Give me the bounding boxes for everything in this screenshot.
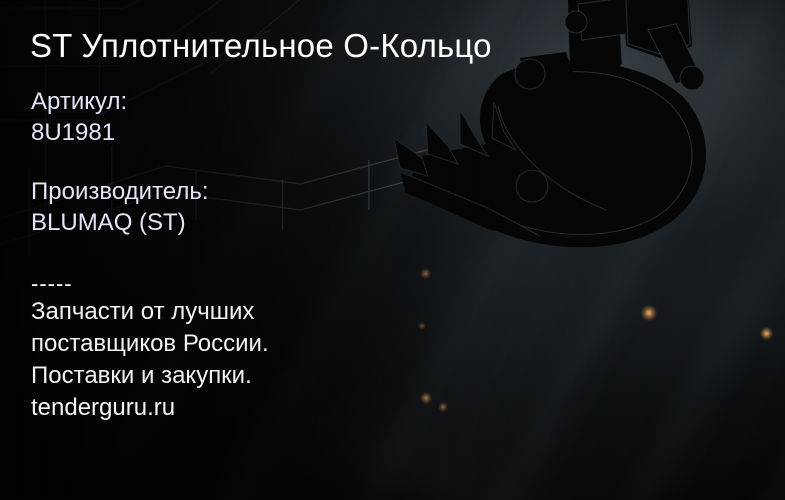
promo-line-3: Поставки и закупки. (31, 360, 269, 392)
promo-block: ----- Запчасти от лучших поставщиков Рос… (31, 272, 269, 424)
product-banner: ST Уплотнительное О-Кольцо Артикул: 8U19… (0, 0, 785, 500)
promo-line-2: поставщиков России. (31, 328, 269, 360)
field-manufacturer: Производитель: BLUMAQ (ST) (31, 176, 209, 238)
field-manufacturer-value: BLUMAQ (ST) (31, 207, 209, 238)
field-article: Артикул: 8U1981 (31, 86, 127, 148)
field-manufacturer-label: Производитель: (31, 178, 209, 205)
product-title: ST Уплотнительное О-Кольцо (30, 26, 492, 66)
promo-line-1: Запчасти от лучших (31, 296, 269, 328)
field-article-value: 8U1981 (31, 117, 127, 148)
field-article-label: Артикул: (31, 88, 127, 115)
promo-divider: ----- (31, 272, 269, 296)
promo-website: tenderguru.ru (31, 392, 269, 424)
banner-content: ST Уплотнительное О-Кольцо Артикул: 8U19… (0, 0, 785, 500)
